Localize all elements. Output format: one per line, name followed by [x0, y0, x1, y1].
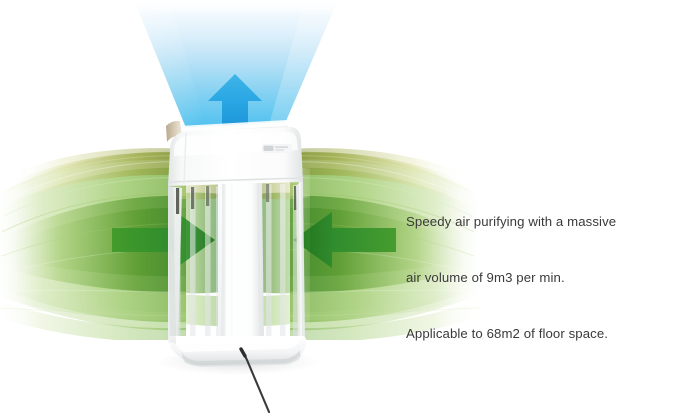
caption-line-1: Speedy air purifying with a massive: [406, 213, 646, 232]
illustration-canvas: Speedy air purifying with a massive air …: [0, 0, 680, 420]
caption-line-2: air volume of 9m3 per min.: [406, 269, 646, 288]
brand-plate: [262, 144, 292, 153]
caption-block: Speedy air purifying with a massive air …: [406, 176, 646, 381]
intake-vents-right: [266, 184, 299, 340]
caption-line-3: Applicable to 68m2 of floor space.: [406, 325, 646, 344]
